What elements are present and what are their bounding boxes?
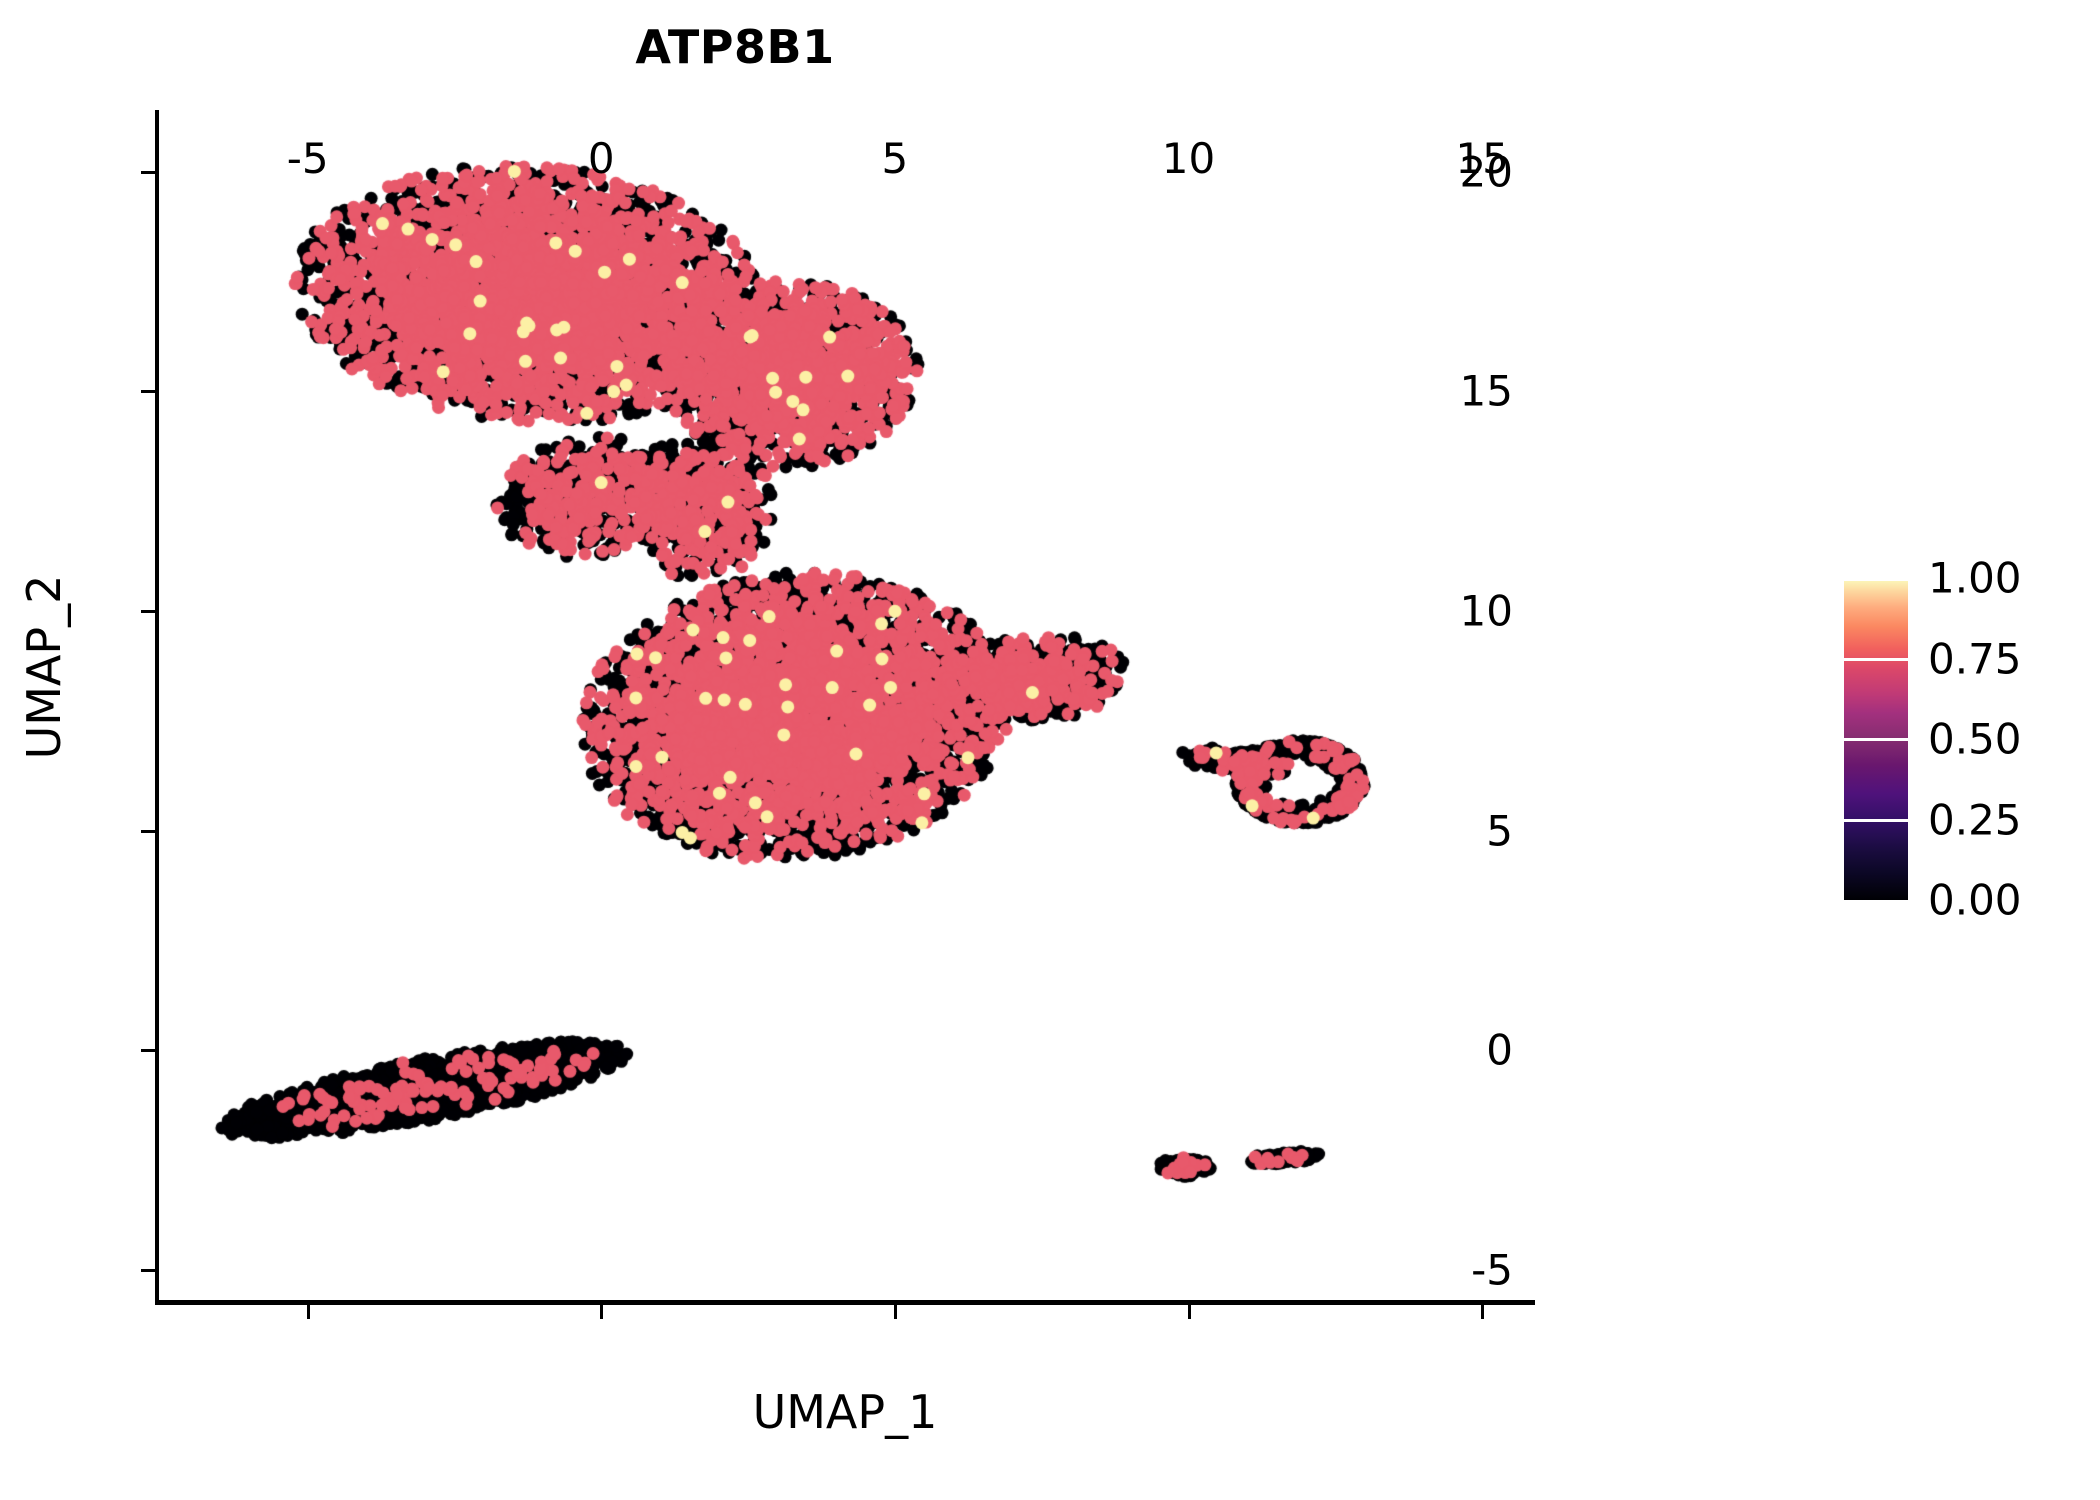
x-tick-mark <box>1188 1305 1191 1319</box>
colorbar-tick-label: 0.50 <box>1928 715 2022 764</box>
umap-feature-plot: ATP8B1 -505101520 -5051015 UMAP_1 UMAP_2… <box>0 0 2100 1500</box>
x-axis-spine <box>155 1300 1535 1305</box>
x-tick-label: 15 <box>1455 134 1508 183</box>
page-title: ATP8B1 <box>0 20 1470 74</box>
y-tick-label: 15 <box>1460 367 1513 416</box>
colorbar-tick-label: 0.00 <box>1928 876 2022 925</box>
y-tick-label: 10 <box>1460 586 1513 635</box>
x-tick-label: -5 <box>287 134 329 183</box>
y-axis-label: UMAP_2 <box>17 357 71 977</box>
x-tick-label: 5 <box>882 134 909 183</box>
colorbar: 0.000.250.500.751.00 <box>1844 578 2084 900</box>
y-tick-label: 5 <box>1486 806 1513 855</box>
y-tick-label: -5 <box>1471 1245 1513 1294</box>
y-tick-mark <box>141 610 155 613</box>
y-tick-mark <box>141 1049 155 1052</box>
y-tick-mark <box>141 1269 155 1272</box>
y-tick-mark <box>141 390 155 393</box>
colorbar-tick-label: 1.00 <box>1928 554 2022 603</box>
colorbar-tick-label: 0.25 <box>1928 795 2022 844</box>
x-tick-mark <box>307 1305 310 1319</box>
colorbar-tick-mark <box>1844 738 1908 741</box>
x-tick-label: 10 <box>1162 134 1215 183</box>
colorbar-tick-mark <box>1844 578 1908 581</box>
y-tick-label: 0 <box>1486 1026 1513 1075</box>
y-tick-mark <box>141 171 155 174</box>
colorbar-tick-mark <box>1844 819 1908 822</box>
plot-axes: -505101520 -5051015 <box>155 110 1535 1305</box>
x-tick-mark <box>600 1305 603 1319</box>
x-tick-mark <box>894 1305 897 1319</box>
x-axis-label: UMAP_1 <box>155 1385 1535 1439</box>
colorbar-tick-mark <box>1844 658 1908 661</box>
x-tick-label: 0 <box>588 134 615 183</box>
colorbar-tick-label: 0.75 <box>1928 634 2022 683</box>
y-axis-spine <box>155 110 159 1305</box>
y-tick-mark <box>141 830 155 833</box>
x-tick-mark <box>1481 1305 1484 1319</box>
